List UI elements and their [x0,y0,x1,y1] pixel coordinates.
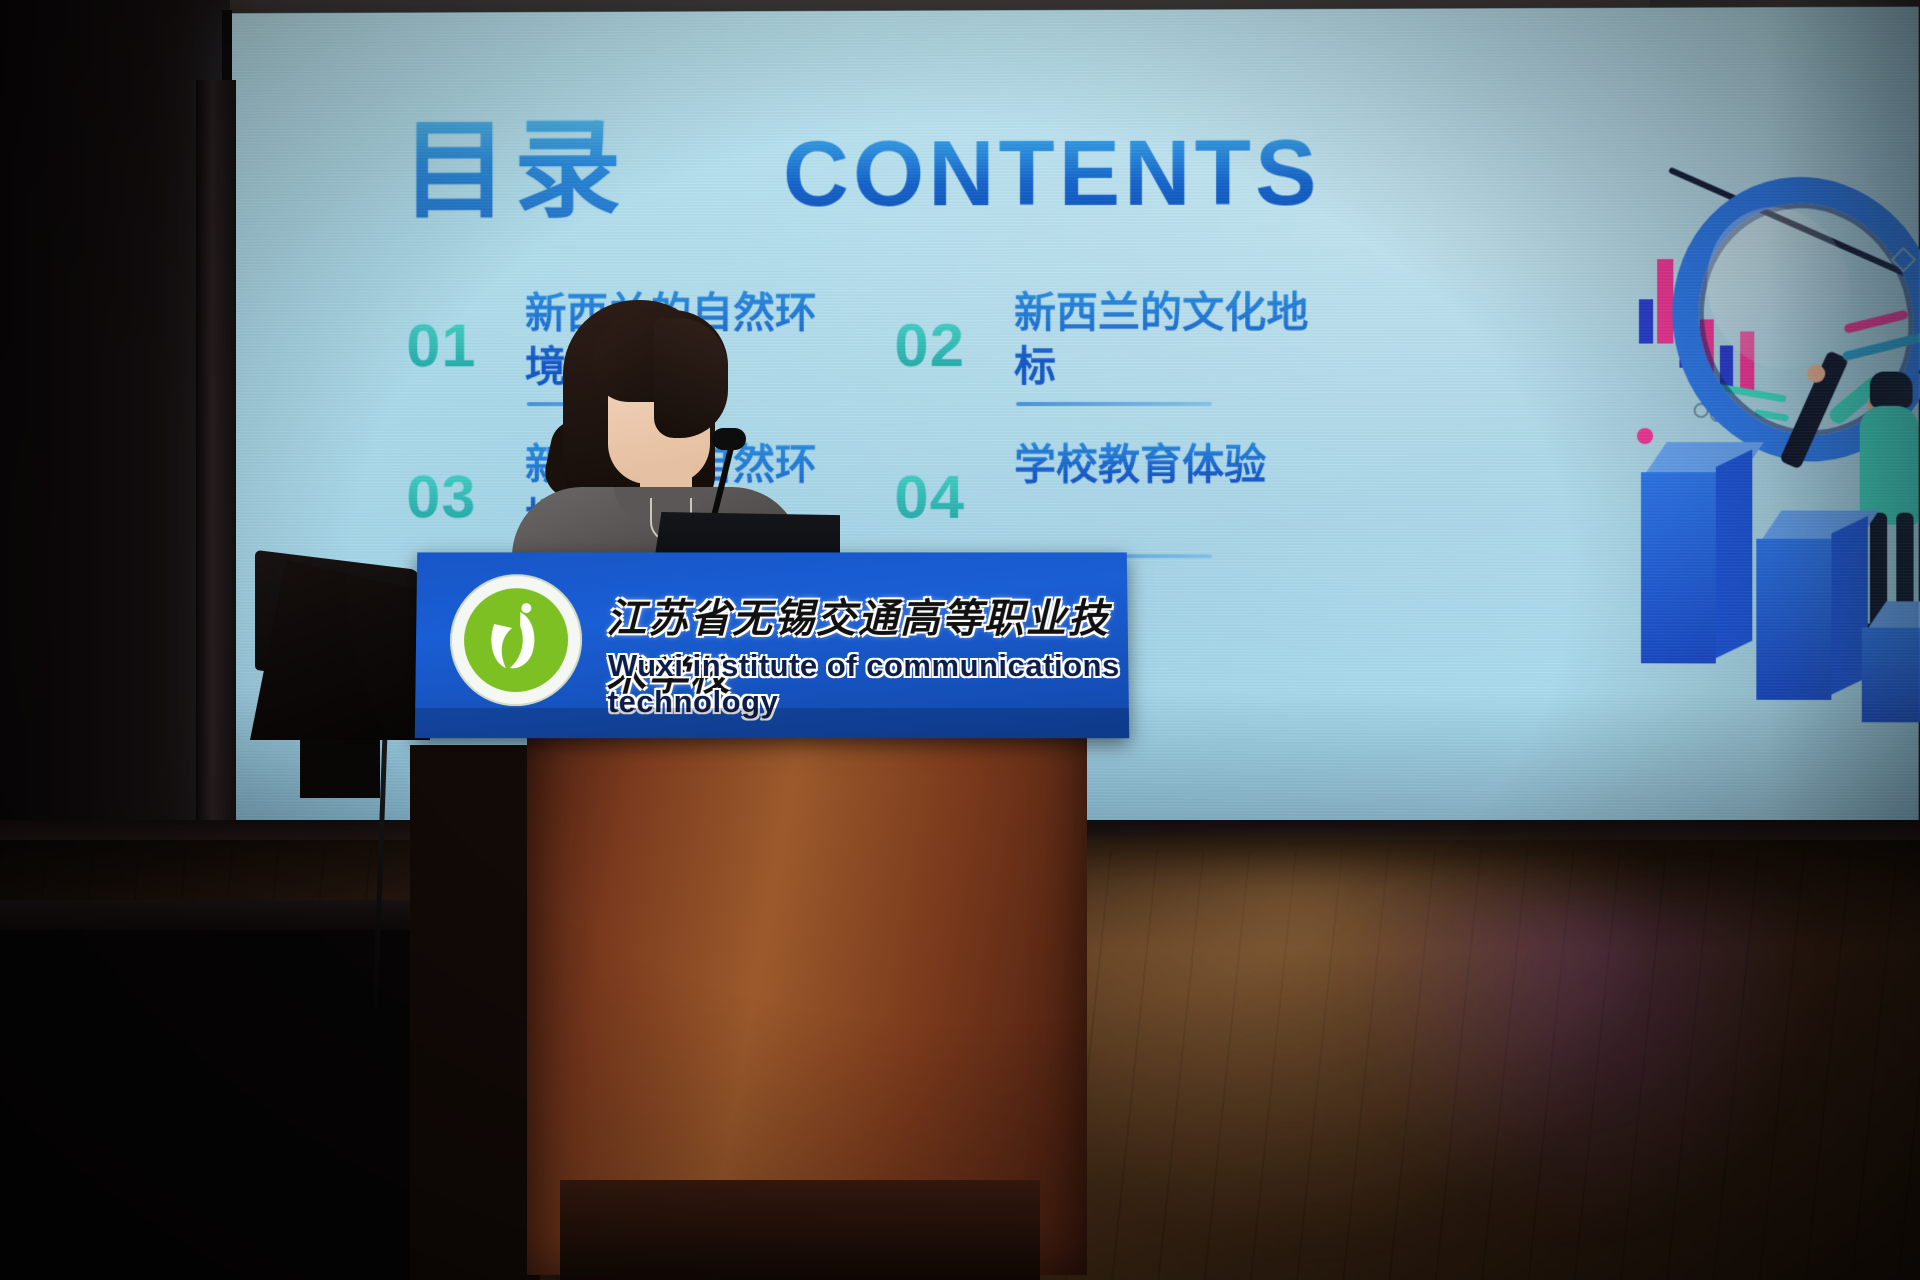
item-text-04: 学校教育体验 [1014,438,1314,492]
item-number-03: 03 [406,462,476,533]
podium-base [560,1180,1040,1280]
banner-bottom-shade [415,708,1129,738]
item-rule-02 [1016,402,1212,406]
stage-pillar [196,80,236,840]
presentation-scene: 目录 CONTENTS 01 新西兰的自然环境 02 新西兰的文化地标 03 新… [0,0,1920,1280]
item-number-01: 01 [406,311,476,382]
item-number-04: 04 [894,462,965,533]
item-text-02: 新西兰的文化地标 [1014,286,1314,394]
podium-side-shadow [410,745,540,1280]
flat-bar-1 [1639,299,1653,343]
microphone-head-icon [712,428,746,450]
bar3d-1 [1641,442,1762,663]
stage-front-dark [0,930,470,1280]
dot-pink [1637,428,1653,444]
logo-outer-ring [449,574,582,706]
item-number-02: 02 [894,310,965,381]
school-logo [449,574,582,706]
floor-purple-reflection [1350,900,1810,1230]
podium-banner: 江苏省无锡交通高等职业技术学校 Wuxi institute of commun… [415,552,1129,738]
slide-title-cn: 目录 [401,116,627,224]
flat-bar-2 [1657,259,1673,343]
speaker-fringe-side [654,318,728,438]
slide-title-en: CONTENTS [783,127,1321,220]
